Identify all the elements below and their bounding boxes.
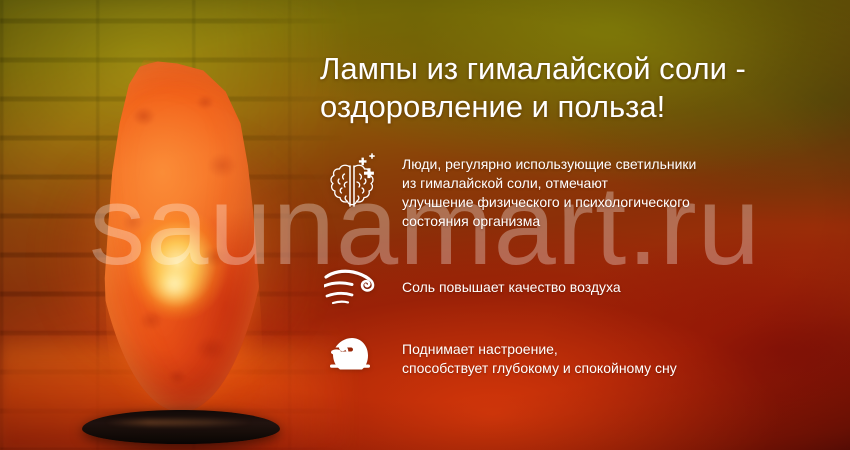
benefit-line: из гималайской соли, отмечают [402, 174, 696, 193]
lamp-bulb-hotspot [138, 248, 214, 318]
headline-line-1: Лампы из гималайской соли - [320, 50, 840, 88]
benefit-line: состояния организма [402, 212, 696, 231]
benefit-line: Люди, регулярно использующие светильники [402, 155, 696, 174]
benefit-item-sleep-mood: Поднимает настроение, способствует глубо… [324, 328, 677, 384]
benefit-line: улучшение физического и психологического [402, 193, 696, 212]
benefit-text-sleep-mood: Поднимает настроение, способствует глубо… [402, 328, 677, 378]
lamp-base-highlight [104, 419, 254, 426]
banner-headline: Лампы из гималайской соли - оздоровление… [320, 50, 840, 126]
salt-lamp-image [74, 52, 290, 450]
benefit-item-air-quality: Соль повышает качество воздуха [324, 264, 621, 310]
benefit-line: Поднимает настроение, [402, 340, 677, 359]
salt-lamp-promo-banner: saunamart.ru Лампы из гималайской соли -… [0, 0, 850, 450]
sleeping-person-icon [324, 328, 388, 384]
lamp-wooden-base [82, 410, 280, 444]
wind-air-icon [324, 264, 388, 310]
benefit-text-air-quality: Соль повышает качество воздуха [402, 264, 621, 297]
benefit-text-mental-physical: Люди, регулярно использующие светильники… [402, 150, 696, 231]
brain-sparkle-icon [324, 152, 388, 216]
banner-content: Лампы из гималайской соли - оздоровление… [318, 0, 850, 450]
headline-line-2: оздоровление и польза! [320, 88, 840, 126]
benefit-item-mental-physical: Люди, регулярно использующие светильники… [324, 150, 696, 231]
benefit-line: способствует глубокому и спокойному сну [402, 359, 677, 378]
benefit-line: Соль повышает качество воздуха [402, 278, 621, 297]
